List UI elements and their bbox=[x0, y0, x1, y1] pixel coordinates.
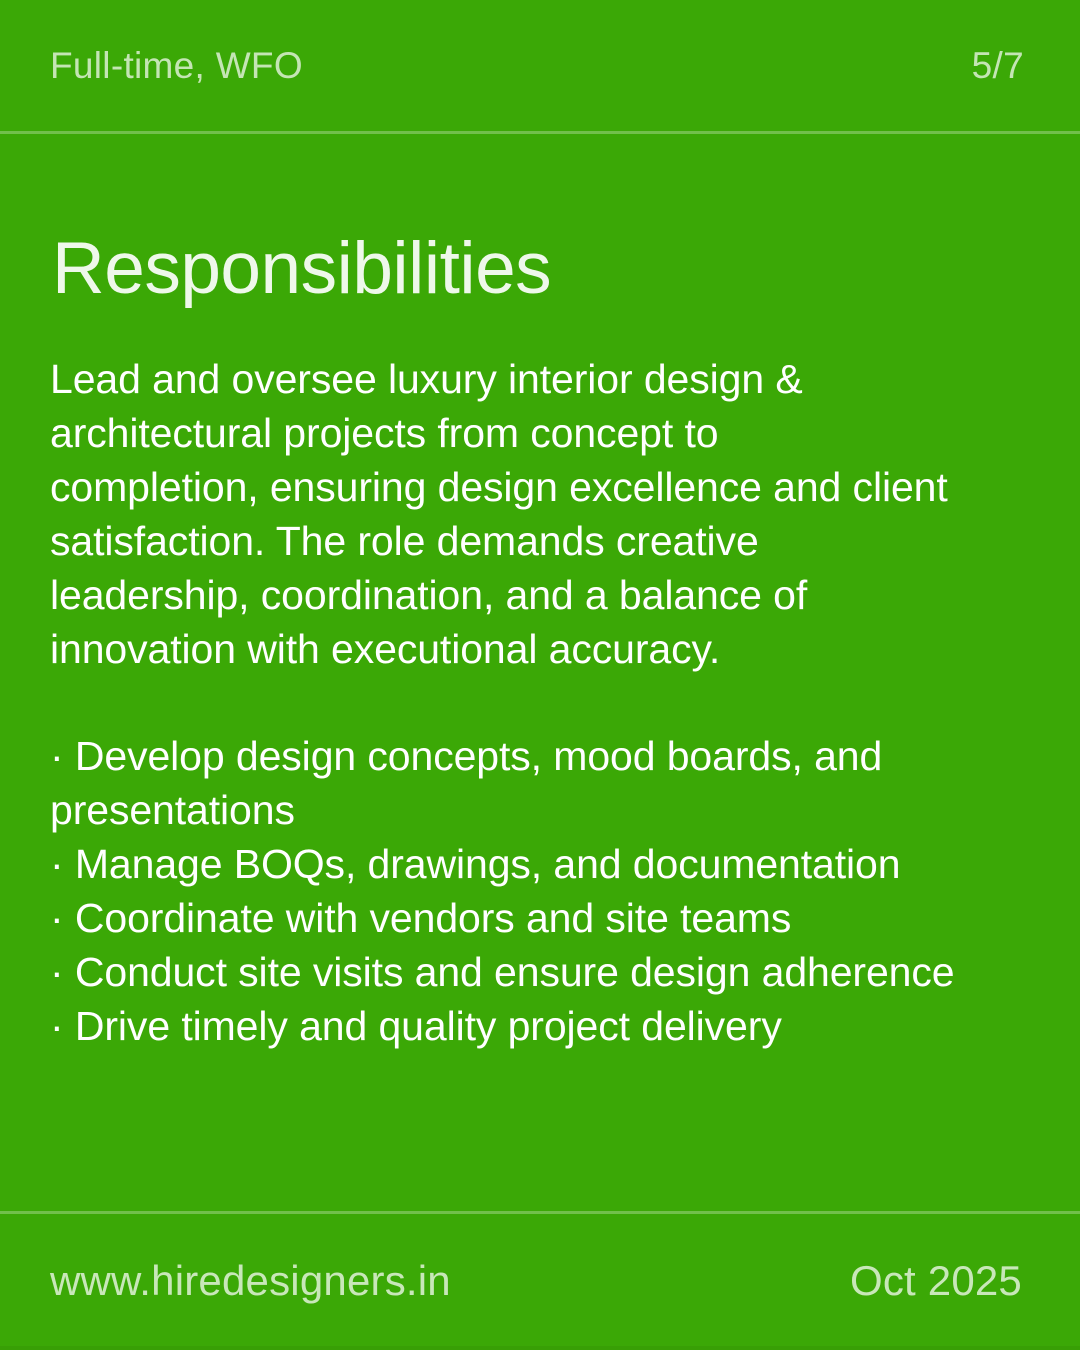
bullet-marker-icon: · bbox=[50, 895, 64, 941]
intro-line: Lead and oversee luxury interior design … bbox=[50, 352, 1032, 406]
list-item-label: Manage BOQs, drawings, and documentation bbox=[75, 841, 901, 887]
list-item-label: Drive timely and quality project deliver… bbox=[75, 1003, 782, 1049]
intro-line: leadership, coordination, and a balance … bbox=[50, 568, 1032, 622]
slide-footer: www.hiredesigners.in Oct 2025 bbox=[0, 1211, 1080, 1350]
intro-line: architectural projects from concept to bbox=[50, 406, 1032, 460]
list-item: · Drive timely and quality project deliv… bbox=[50, 999, 1032, 1053]
page-title: Responsibilities bbox=[52, 232, 1032, 305]
list-item: · Develop design concepts, mood boards, … bbox=[50, 729, 1032, 837]
list-item-label: Develop design concepts, mood boards, an… bbox=[50, 733, 882, 833]
bullet-marker-icon: · bbox=[50, 1003, 64, 1049]
bullet-marker-icon: · bbox=[50, 841, 64, 887]
employment-type-label: Full-time, WFO bbox=[50, 47, 303, 84]
bullet-marker-icon: · bbox=[50, 733, 64, 779]
page-indicator: 5/7 bbox=[972, 47, 1030, 84]
responsibility-list: · Develop design concepts, mood boards, … bbox=[50, 729, 1032, 1053]
website-link[interactable]: www.hiredesigners.in bbox=[50, 1260, 451, 1302]
slide-header: Full-time, WFO 5/7 bbox=[0, 0, 1080, 131]
list-item: · Coordinate with vendors and site teams bbox=[50, 891, 1032, 945]
slide-body: Responsibilities Lead and oversee luxury… bbox=[0, 131, 1080, 1053]
intro-paragraph: Lead and oversee luxury interior design … bbox=[50, 352, 1032, 676]
list-item-label: Coordinate with vendors and site teams bbox=[75, 895, 791, 941]
intro-line: innovation with executional accuracy. bbox=[50, 622, 1032, 676]
date-label: Oct 2025 bbox=[850, 1260, 1022, 1302]
intro-line: completion, ensuring design excellence a… bbox=[50, 460, 1032, 514]
intro-line: satisfaction. The role demands creative bbox=[50, 514, 1032, 568]
job-post-slide: Full-time, WFO 5/7 Responsibilities Lead… bbox=[0, 0, 1080, 1350]
list-item-label: Conduct site visits and ensure design ad… bbox=[75, 949, 955, 995]
list-item: · Conduct site visits and ensure design … bbox=[50, 945, 1032, 999]
list-item: · Manage BOQs, drawings, and documentati… bbox=[50, 837, 1032, 891]
bottom-edge bbox=[0, 1346, 1080, 1350]
bullet-marker-icon: · bbox=[50, 949, 64, 995]
